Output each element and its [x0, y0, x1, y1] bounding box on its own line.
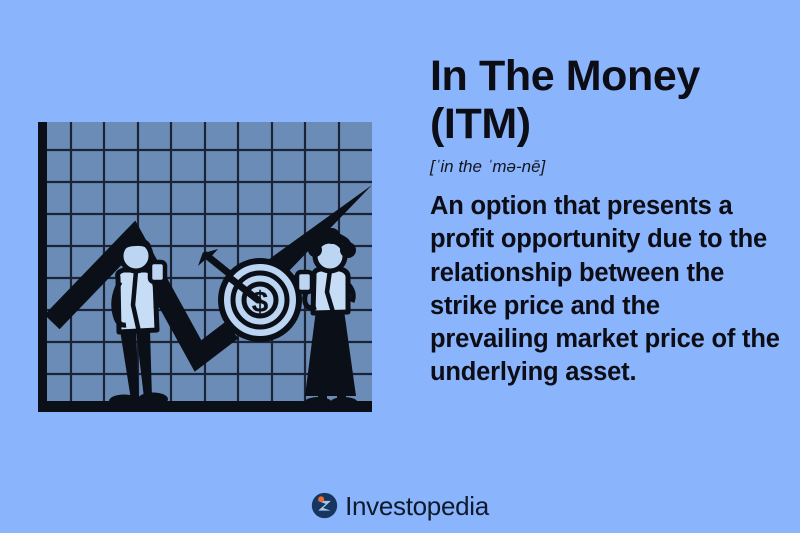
- title-line-2: (ITM): [430, 100, 531, 148]
- investopedia-logo-icon: [311, 492, 338, 519]
- title-line-1: In The Money: [430, 52, 700, 100]
- brand-footer: Investopedia: [0, 492, 800, 519]
- brand-name: Investopedia: [345, 493, 489, 519]
- definition-text: An option that presents a profit opportu…: [430, 190, 780, 389]
- term-text-column: In The Money (ITM) [ˈin the ˈmə-nē] An o…: [430, 52, 780, 389]
- page-title: In The Money (ITM): [430, 52, 780, 148]
- illustration-panel: $: [0, 0, 400, 470]
- infographic-card: $: [0, 0, 800, 533]
- pronunciation-text: [ˈin the ˈmə-nē]: [430, 157, 780, 177]
